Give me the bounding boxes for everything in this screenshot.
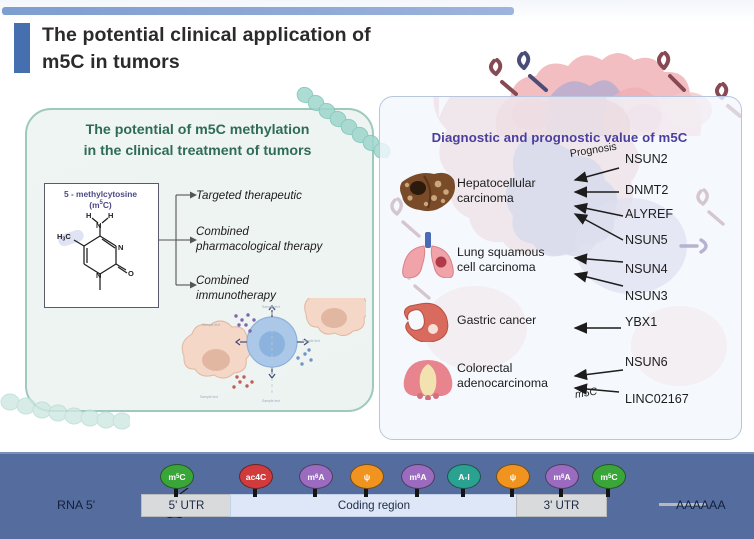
gene-label-nsun5: NSUN5 — [625, 233, 668, 247]
cancer-3-line1: Colorectal — [457, 361, 548, 376]
rna-panel-top-edge — [0, 452, 754, 454]
methylcytosine-structure: H H N H3C N N O — [44, 206, 157, 306]
gene-label-dnmt2: DNMT2 — [625, 183, 668, 197]
rna-segment-3utr: 3' UTR — [516, 494, 607, 517]
modification-marker-7[interactable]: m6A — [545, 464, 579, 489]
therapy-item-1: Combined pharmacological therapy — [196, 225, 322, 255]
figure-canvas: The potential clinical application of m5… — [0, 0, 754, 539]
svg-text:O: O — [128, 269, 134, 278]
modification-marker-2[interactable]: m6A — [299, 464, 333, 489]
rna-segment-coding: Coding region — [230, 494, 518, 517]
rna-segment-5utr: 5' UTR — [141, 494, 232, 517]
molecule-name-text: 5 - methylcytosine — [64, 189, 137, 199]
svg-text:Sample text: Sample text — [262, 399, 280, 403]
therapy-2-line2: immunotherapy — [196, 289, 276, 304]
cancer-label-gastric: Gastric cancer — [457, 313, 536, 328]
bead-chain-bottom-icon — [0, 386, 130, 434]
svg-text:H: H — [108, 211, 113, 220]
cancer-3-line2: adenocarcinoma — [457, 376, 548, 391]
therapy-item-0: Targeted therapeutic — [196, 189, 302, 204]
poly-a-tail-label: AAAAAA — [676, 498, 726, 512]
cancer-label-lung: Lung squamous cell carcinoma — [457, 245, 545, 275]
svg-text:H3C: H3C — [57, 232, 71, 243]
page-title-line2: m5C in tumors — [42, 49, 442, 76]
gene-label-nsun3: NSUN3 — [625, 289, 668, 303]
therapy-1-line1: Combined — [196, 225, 322, 240]
page-title-line1: The potential clinical application of — [42, 22, 442, 49]
gene-label-nsun6: NSUN6 — [625, 355, 668, 369]
title-accent-block — [14, 23, 30, 73]
svg-text:H: H — [86, 211, 91, 220]
gene-label-nsun2: NSUN2 — [625, 152, 668, 166]
immunotherapy-illustration: Sample text Sample text Sample text Samp… — [176, 298, 366, 406]
svg-text:Sample text: Sample text — [200, 395, 218, 399]
cancer-0-line1: Hepatocellular — [457, 176, 536, 191]
page-title: The potential clinical application of m5… — [42, 22, 442, 75]
svg-text:Sample text: Sample text — [262, 305, 280, 309]
gene-label-alyref: ALYREF — [625, 207, 673, 221]
cancer-label-colorectal: Colorectal adenocarcinoma — [457, 361, 548, 391]
cancer-0-line2: carcinoma — [457, 191, 536, 206]
cancer-2-line1: Gastric cancer — [457, 313, 536, 328]
therapy-0-line1: Targeted therapeutic — [196, 189, 302, 204]
modification-marker-3[interactable]: ψ — [350, 464, 384, 489]
modification-marker-6[interactable]: ψ — [496, 464, 530, 489]
modification-marker-1[interactable]: ac4C — [239, 464, 273, 489]
svg-text:Sample text: Sample text — [302, 339, 320, 343]
svg-text:N: N — [118, 243, 123, 252]
svg-text:N: N — [96, 221, 101, 230]
cancer-1-line1: Lung squamous — [457, 245, 545, 260]
modification-marker-5[interactable]: A-I — [447, 464, 481, 489]
svg-text:Sample text: Sample text — [202, 323, 220, 327]
therapy-1-line2: pharmacological therapy — [196, 240, 322, 255]
gene-label-linc02167: LINC02167 — [625, 392, 689, 406]
svg-text:N: N — [96, 271, 101, 280]
gene-arrow-connectors — [379, 96, 740, 438]
cancer-1-line2: cell carcinoma — [457, 260, 545, 275]
therapy-2-line1: Combined — [196, 274, 276, 289]
modification-marker-0[interactable]: m5C — [160, 464, 194, 489]
header-accent-bar — [2, 7, 514, 15]
rna-5prime-label: RNA 5' — [57, 498, 95, 512]
gene-label-nsun4: NSUN4 — [625, 262, 668, 276]
therapy-item-2: Combined immunotherapy — [196, 274, 276, 304]
modification-marker-8[interactable]: m5C — [592, 464, 626, 489]
gene-label-ybx1: YBX1 — [625, 315, 657, 329]
cancer-label-hepatocellular: Hepatocellular carcinoma — [457, 176, 536, 206]
modification-marker-4[interactable]: m6A — [401, 464, 435, 489]
